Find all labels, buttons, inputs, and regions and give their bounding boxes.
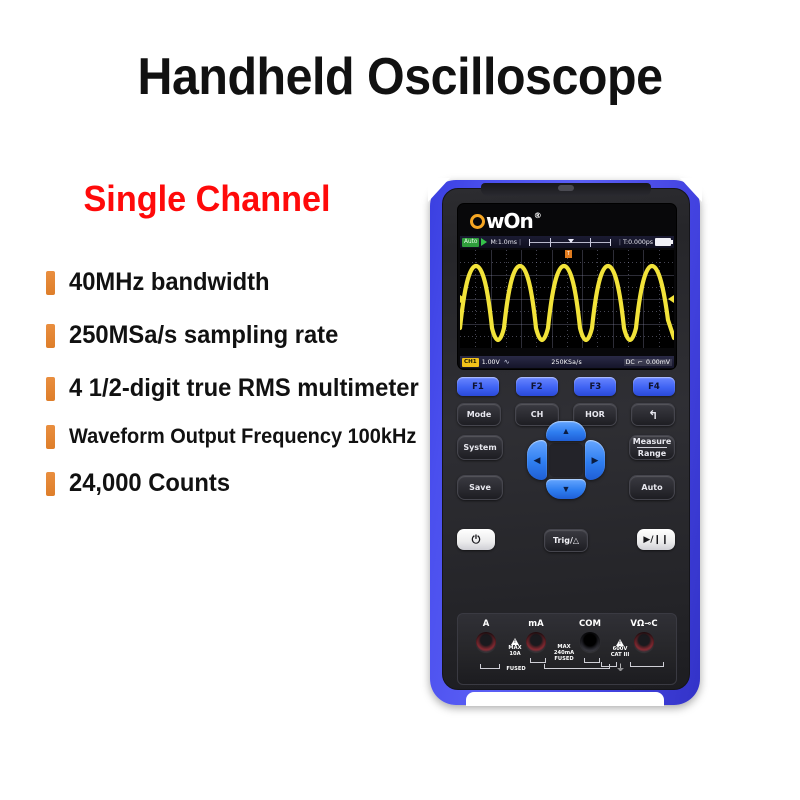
owon-o-icon — [470, 214, 485, 229]
bullet-icon — [46, 377, 55, 401]
f3-button[interactable]: F3 — [574, 377, 616, 396]
f1-button[interactable]: F1 — [457, 377, 499, 396]
list-item: 24,000 Counts — [46, 469, 466, 498]
jack-label-com: COM — [570, 619, 610, 629]
ac-coupling-icon: ∿ — [504, 358, 510, 366]
list-item: 4 1/2-digit true RMS multimeter — [46, 374, 466, 403]
warning-line2: 10A — [509, 651, 520, 657]
warning-triangle-icon — [616, 639, 624, 646]
brand-wordmark: wOn — [486, 211, 533, 231]
system-button[interactable]: System — [457, 435, 503, 460]
bullet-icon — [46, 324, 55, 348]
jack-label-ma: mA — [516, 619, 556, 629]
dpad-right-button[interactable]: ▶ — [585, 440, 605, 480]
channel-badge: CH1 — [462, 358, 479, 367]
bullet-icon — [46, 271, 55, 295]
brace — [584, 658, 600, 663]
bullet-icon — [46, 425, 55, 449]
feature-label: 4 1/2-digit true RMS multimeter — [69, 374, 419, 403]
trigger-source-label: DC — [626, 359, 635, 366]
trigger-button[interactable]: Trig/△ — [544, 529, 588, 552]
play-icon — [481, 238, 487, 246]
slider-tick — [590, 238, 591, 247]
top-slot-vent — [558, 185, 574, 191]
jack-vohmc[interactable] — [634, 632, 654, 652]
page-title: Handheld Oscilloscope — [28, 47, 772, 107]
brace — [630, 662, 664, 667]
feature-label: 250MSa/s sampling rate — [69, 321, 338, 350]
brand-logo: wOn® — [470, 211, 542, 231]
divider: | — [619, 239, 621, 246]
screen-status-bar: Auto M:1.0ms | | T:0.000ps — [460, 236, 674, 248]
oscilloscope-device: wOn® Auto M:1.0ms | | — [430, 175, 700, 710]
product-marketing-image: Handheld Oscilloscope Single Channel 40M… — [0, 0, 800, 800]
screen-bottom-bar: CH1 1.00V ∿ 250KSa/s DC ⌐ 0.00mV — [460, 356, 674, 368]
slider-tick — [550, 238, 551, 247]
measure-range-button[interactable]: Measure Range — [629, 435, 675, 460]
direction-pad: ▲ ▼ ◀ ▶ — [527, 421, 605, 499]
feature-list: 40MHz bandwidth 250MSa/s sampling rate 4… — [46, 268, 466, 518]
device-chassis: wOn® Auto M:1.0ms | | — [442, 188, 690, 690]
save-button[interactable]: Save — [457, 475, 503, 500]
waveform-graticule[interactable]: T — [460, 250, 674, 348]
display-screen[interactable]: wOn® Auto M:1.0ms | | — [457, 203, 677, 370]
jack-label-vohmc: VΩ⊸C — [624, 619, 664, 629]
bumper-foot-gap — [466, 692, 664, 706]
auto-button[interactable]: Auto — [629, 475, 675, 500]
keypad: F1 F2 F3 F4 Mode CH HOR ↰ System Measure — [457, 377, 675, 607]
power-button[interactable]: ⏻ — [457, 529, 495, 550]
dpad-up-button[interactable]: ▲ — [546, 421, 586, 441]
timeline-slider[interactable] — [525, 238, 615, 246]
dpad-center — [549, 443, 583, 477]
f2-button[interactable]: F2 — [516, 377, 558, 396]
jack-label-a: A — [466, 619, 506, 629]
status-badge: Auto — [462, 238, 479, 247]
trigger-info: DC ⌐ 0.00mV — [624, 359, 672, 366]
jack-com[interactable] — [580, 632, 600, 652]
divider — [637, 447, 667, 448]
subtitle: Single Channel — [84, 178, 331, 220]
brace — [480, 664, 500, 669]
brace — [601, 662, 617, 667]
run-stop-button[interactable]: ▶/❙❙ — [637, 529, 675, 550]
list-item: 40MHz bandwidth — [46, 268, 466, 297]
trigger-level-label: 0.00mV — [646, 359, 670, 366]
input-jack-panel: A mA COM VΩ⊸C MAX 10A FUSED — [457, 613, 677, 685]
sample-rate-label: 250KSa/s — [551, 359, 582, 366]
warning-triangle-icon — [511, 638, 519, 645]
trigger-position-label: T:0.000ps — [623, 239, 653, 246]
timebase-label: M:1.0ms — [490, 239, 517, 246]
feature-label: 40MHz bandwidth — [69, 268, 270, 297]
warning-line3: FUSED — [554, 656, 573, 662]
registered-trademark-icon: ® — [534, 211, 542, 220]
list-item: Waveform Output Frequency 100kHz — [46, 425, 466, 449]
top-slot — [481, 183, 651, 196]
measure-label: Measure — [633, 437, 672, 446]
back-arrow-icon[interactable]: ↰ — [631, 403, 675, 426]
waveform-trace — [460, 250, 674, 348]
feature-label: Waveform Output Frequency 100kHz — [69, 425, 416, 449]
volts-per-div-label: 1.00V — [482, 359, 500, 366]
warning-ma: MAX 240mA FUSED — [546, 644, 582, 662]
warning-vohmc: 600V CAT III — [604, 639, 636, 658]
brace — [530, 658, 546, 663]
dpad-down-button[interactable]: ▼ — [546, 479, 586, 499]
slider-cap-left — [529, 239, 530, 246]
ground-symbol-icon: ⏚ — [616, 664, 625, 673]
dpad-left-button[interactable]: ◀ — [527, 440, 547, 480]
divider: | — [519, 239, 521, 246]
warning-line2: CAT III — [611, 652, 630, 658]
f4-button[interactable]: F4 — [633, 377, 675, 396]
feature-label: 24,000 Counts — [69, 469, 230, 498]
rising-edge-icon: ⌐ — [638, 359, 643, 366]
warning-a: MAX 10A — [498, 638, 532, 657]
jack-a[interactable] — [476, 632, 496, 652]
slider-cap-right — [610, 239, 611, 246]
mode-button[interactable]: Mode — [457, 403, 501, 426]
battery-icon — [655, 238, 671, 246]
range-label: Range — [638, 449, 666, 458]
bullet-icon — [46, 472, 55, 496]
slider-position-marker-icon[interactable] — [568, 239, 574, 243]
list-item: 250MSa/s sampling rate — [46, 321, 466, 350]
